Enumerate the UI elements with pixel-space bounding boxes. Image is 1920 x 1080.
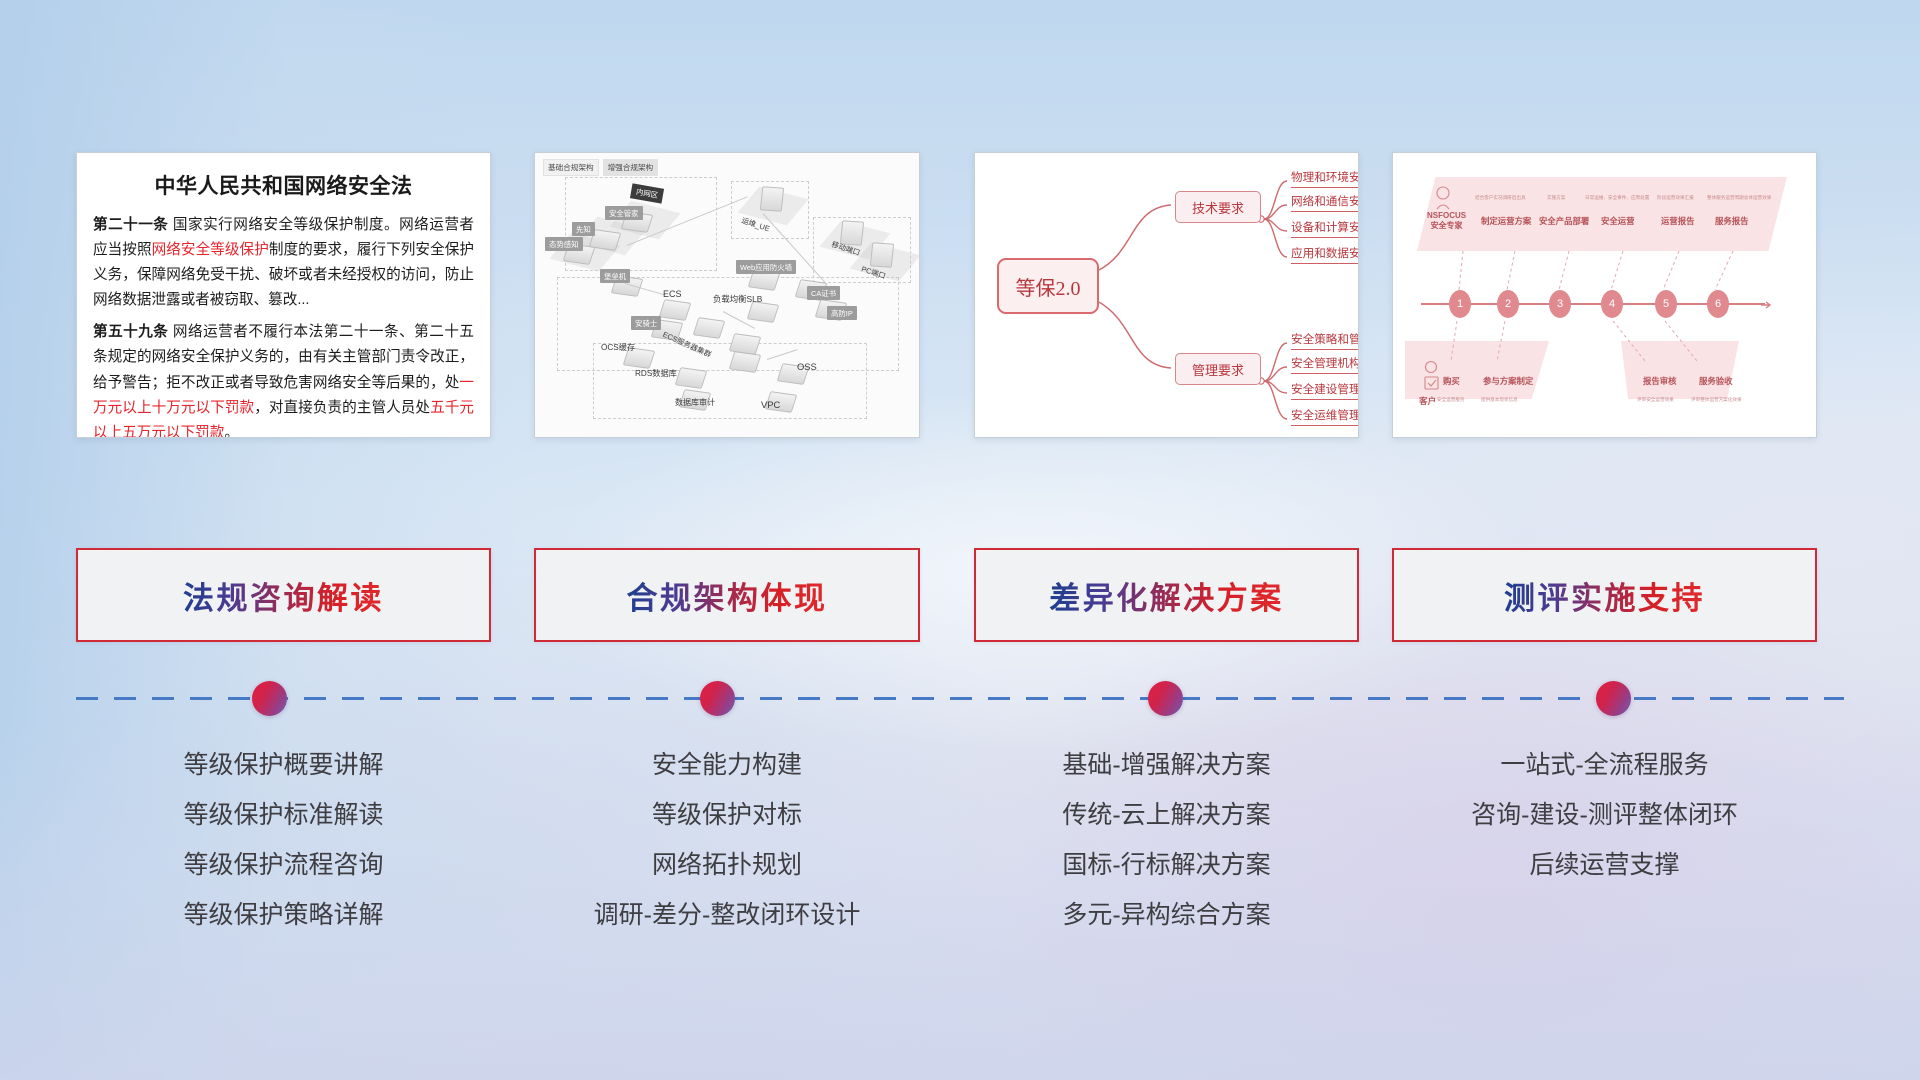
timeline-top-sub: 结合客户实况调研后出具 bbox=[1475, 195, 1526, 201]
section-title-text: 测评实施支持 bbox=[1504, 573, 1705, 618]
timeline-node-4[interactable] bbox=[1596, 681, 1631, 716]
architecture-node-server bbox=[760, 186, 784, 212]
law-article-number: 第二十一条 bbox=[93, 217, 168, 233]
thumbnail-mindmap[interactable]: 等保2.0 技术要求 物理和环境安全 网络和通信安全 设备和计算安全 应用和数据… bbox=[974, 152, 1359, 438]
timeline-bottom-title: 购买 bbox=[1443, 375, 1460, 387]
timeline-bottom-sub: 评审安全运营效果 bbox=[1637, 397, 1674, 403]
list-item: 网络拓扑规划 bbox=[534, 840, 920, 890]
mindmap-leaf: 安全建设管理 bbox=[1291, 381, 1359, 400]
list-item: 基础-增强解决方案 bbox=[974, 740, 1359, 790]
list-item: 安全能力构建 bbox=[534, 740, 920, 790]
mindmap-branch-management: 管理要求 bbox=[1175, 353, 1261, 385]
architecture-label: OSS bbox=[797, 361, 817, 372]
architecture-node-server bbox=[870, 242, 894, 268]
architecture-label: 先知 bbox=[572, 222, 595, 236]
timeline-dashed-line bbox=[76, 697, 1844, 700]
timeline-bottom-sub: 提供基本现状信息 bbox=[1481, 397, 1518, 403]
list-item: 等级保护标准解读 bbox=[76, 790, 491, 840]
law-paragraph: 第五十九条 网络运营者不履行本法第二十一条、第二十五条规定的网络安全保护义务的，… bbox=[93, 320, 474, 438]
architecture-node bbox=[675, 367, 708, 389]
timeline-top-sub: 阶段运营效果汇报 bbox=[1657, 195, 1694, 201]
architecture-label: 安骑士 bbox=[631, 316, 661, 330]
timeline-top-sub: 日常运维、安全事件、应周处置 bbox=[1585, 195, 1649, 201]
architecture-label: 态势感知 bbox=[545, 237, 583, 251]
mindmap-leaf: 网络和通信安全 bbox=[1291, 193, 1359, 212]
architecture-tabs: 基础合规架构 增强合规架构 bbox=[543, 159, 658, 176]
list-item: 等级保护策略详解 bbox=[76, 890, 491, 940]
architecture-label: 高防IP bbox=[827, 306, 857, 320]
list-item: 后续运营支撑 bbox=[1392, 840, 1817, 890]
list-item: 等级保护对标 bbox=[534, 790, 920, 840]
detail-list-2: 安全能力构建 等级保护对标 网络拓扑规划 调研-差分-整改闭环设计 bbox=[534, 740, 920, 940]
list-item: 传统-云上解决方案 bbox=[974, 790, 1359, 840]
timeline-connector bbox=[0, 676, 1920, 726]
architecture-label: VPC bbox=[761, 399, 780, 410]
thumbnail-row: 中华人民共和国网络安全法 第二十一条 国家实行网络安全等级保护制度。网络运营者应… bbox=[0, 152, 1920, 442]
law-article-number: 第五十九条 bbox=[93, 324, 168, 340]
architecture-node bbox=[729, 351, 762, 373]
section-title-row: 法规咨询解读 合规架构体现 差异化解决方案 测评实施支持 bbox=[0, 548, 1920, 644]
mindmap-diagram: 等保2.0 技术要求 物理和环境安全 网络和通信安全 设备和计算安全 应用和数据… bbox=[975, 153, 1358, 437]
timeline-step-dot: 4 bbox=[1601, 290, 1623, 318]
section-title-text: 合规架构体现 bbox=[627, 573, 828, 618]
timeline-step-dot: 1 bbox=[1449, 290, 1471, 318]
architecture-label: Web应用防火墙 bbox=[736, 260, 796, 274]
architecture-label: RDS数据库 bbox=[635, 367, 677, 379]
law-paragraph: 第二十一条 国家实行网络安全等级保护制度。网络运营者应当按照网络安全等级保护制度… bbox=[93, 213, 474, 313]
mindmap-leaf: 安全运维管理 bbox=[1291, 407, 1359, 426]
architecture-label: CA证书 bbox=[807, 286, 840, 300]
list-item: 调研-差分-整改闭环设计 bbox=[534, 890, 920, 940]
timeline-top-title: 服务报告 bbox=[1715, 215, 1749, 227]
detail-list-4: 一站式-全流程服务 咨询-建设-测评整体闭环 后续运营支撑 bbox=[1392, 740, 1817, 890]
law-run-text: 。 bbox=[224, 425, 239, 438]
law-run-highlight: 网络安全等级保护 bbox=[152, 242, 269, 258]
timeline-bottom-title: 服务验收 bbox=[1699, 375, 1733, 387]
list-item: 咨询-建设-测评整体闭环 bbox=[1392, 790, 1817, 840]
detail-list-3: 基础-增强解决方案 传统-云上解决方案 国标-行标解决方案 多元-异构综合方案 bbox=[974, 740, 1359, 940]
architecture-label: 安全管家 bbox=[605, 206, 643, 220]
thumbnail-service-timeline[interactable]: NSFOCUS安全专家 客户 结合客户实况调研后出具 制定运营方案 实施方案 安… bbox=[1392, 152, 1817, 438]
section-title-box-4[interactable]: 测评实施支持 bbox=[1392, 548, 1817, 642]
list-item: 一站式-全流程服务 bbox=[1392, 740, 1817, 790]
timeline-role-expert: NSFOCUS安全专家 bbox=[1427, 211, 1466, 231]
timeline-step-dot: 5 bbox=[1655, 290, 1677, 318]
mindmap-leaf: 安全策略和管理制度 bbox=[1291, 331, 1359, 350]
architecture-node bbox=[693, 317, 726, 339]
timeline-step-dot: 6 bbox=[1707, 290, 1729, 318]
timeline-bottom-title: 报告审核 bbox=[1643, 375, 1677, 387]
law-document-title: 中华人民共和国网络安全法 bbox=[77, 170, 490, 200]
timeline-top-title: 制定运营方案 bbox=[1481, 215, 1531, 227]
timeline-top-sub: 实施方案 bbox=[1547, 195, 1565, 201]
architecture-tab-basic[interactable]: 基础合规架构 bbox=[543, 159, 599, 176]
list-item: 多元-异构综合方案 bbox=[974, 890, 1359, 940]
mindmap-root-node: 等保2.0 bbox=[997, 258, 1099, 314]
mindmap-leaf: 安全管理机构和人员 bbox=[1291, 355, 1359, 374]
list-item: 等级保护概要讲解 bbox=[76, 740, 491, 790]
timeline-top-title: 安全运营 bbox=[1601, 215, 1635, 227]
architecture-diagram: 基础合规架构 增强合规架构 bbox=[535, 153, 919, 437]
architecture-node bbox=[659, 299, 692, 321]
list-item: 等级保护流程咨询 bbox=[76, 840, 491, 890]
section-title-text: 法规咨询解读 bbox=[183, 573, 384, 618]
law-document-body: 第二十一条 国家实行网络安全等级保护制度。网络运营者应当按照网络安全等级保护制度… bbox=[77, 213, 490, 438]
list-item: 国标-行标解决方案 bbox=[974, 840, 1359, 890]
section-title-box-3[interactable]: 差异化解决方案 bbox=[974, 548, 1359, 642]
timeline-bottom-title: 参与方案制定 bbox=[1483, 375, 1533, 387]
detail-lists-row: 等级保护概要讲解 等级保护标准解读 等级保护流程咨询 等级保护策略详解 安全能力… bbox=[0, 740, 1920, 970]
timeline-step-dot: 3 bbox=[1549, 290, 1571, 318]
timeline-node-3[interactable] bbox=[1148, 681, 1183, 716]
architecture-label: 堡垒机 bbox=[600, 269, 630, 283]
architecture-label: 数据库审计 bbox=[675, 397, 715, 408]
mindmap-leaf: 应用和数据安全 bbox=[1291, 245, 1359, 264]
mindmap-leaf: 设备和计算安全 bbox=[1291, 219, 1359, 238]
timeline-node-1[interactable] bbox=[252, 681, 287, 716]
section-title-box-2[interactable]: 合规架构体现 bbox=[534, 548, 920, 642]
architecture-tab-enhanced[interactable]: 增强合规架构 bbox=[603, 159, 659, 176]
service-timeline-diagram: NSFOCUS安全专家 客户 结合客户实况调研后出具 制定运营方案 实施方案 安… bbox=[1393, 153, 1816, 437]
mindmap-leaf: 物理和环境安全 bbox=[1291, 169, 1359, 188]
timeline-top-title: 安全产品部署 bbox=[1539, 215, 1589, 227]
section-title-text: 差异化解决方案 bbox=[1049, 573, 1284, 618]
thumbnail-cloud-architecture[interactable]: 基础合规架构 增强合规架构 bbox=[534, 152, 920, 438]
timeline-role-customer: 客户 bbox=[1419, 395, 1436, 407]
architecture-label: ECS bbox=[663, 289, 682, 299]
detail-list-1: 等级保护概要讲解 等级保护标准解读 等级保护流程咨询 等级保护策略详解 bbox=[76, 740, 491, 940]
timeline-bottom-sub: 评审整体运营方案化效果 bbox=[1691, 397, 1742, 403]
timeline-top-title: 运营报告 bbox=[1661, 215, 1695, 227]
architecture-label: 负载均衡SLB bbox=[713, 293, 762, 305]
architecture-label: OCS缓存 bbox=[601, 341, 635, 353]
timeline-top-sub: 整体服务运营周期总体运营效果 bbox=[1707, 195, 1771, 201]
thumbnail-law-document[interactable]: 中华人民共和国网络安全法 第二十一条 国家实行网络安全等级保护制度。网络运营者应… bbox=[76, 152, 491, 438]
timeline-bottom-sub: 安全运营服务 bbox=[1437, 397, 1465, 403]
law-run-text: ，对直接负责的主管人员处 bbox=[254, 400, 430, 416]
mindmap-branch-technical: 技术要求 bbox=[1175, 191, 1261, 223]
timeline-node-2[interactable] bbox=[700, 681, 735, 716]
timeline-step-dot: 2 bbox=[1497, 290, 1519, 318]
section-title-box-1[interactable]: 法规咨询解读 bbox=[76, 548, 491, 642]
